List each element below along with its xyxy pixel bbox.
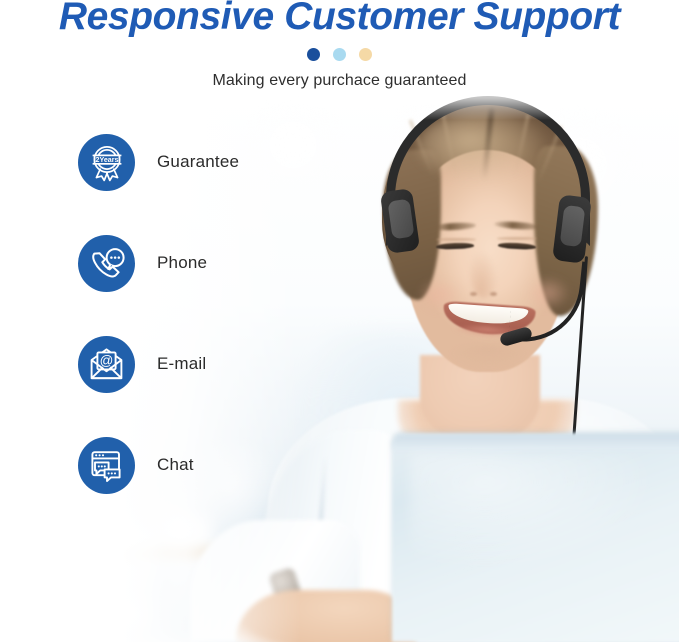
feature-list: 2Years Guarantee (78, 134, 378, 538)
dot-tertiary[interactable] (359, 48, 372, 61)
promo-banner: Responsive Customer Support Making every… (0, 0, 679, 642)
feature-label: Guarantee (157, 152, 239, 172)
svg-text:@: @ (100, 353, 114, 368)
feature-label: Phone (157, 253, 207, 273)
feature-item-guarantee[interactable]: 2Years Guarantee (78, 134, 378, 235)
dot-active[interactable] (307, 48, 320, 61)
feature-item-phone[interactable]: Phone (78, 235, 378, 336)
feature-item-chat[interactable]: Chat (78, 437, 378, 538)
pagination-dots[interactable] (0, 48, 679, 61)
page-title: Responsive Customer Support (0, 0, 679, 39)
banner-content: Responsive Customer Support Making every… (0, 0, 679, 642)
chat-window-icon (78, 437, 135, 494)
guarantee-badge-icon: 2Years (78, 134, 135, 191)
phone-chat-icon (78, 235, 135, 292)
feature-label: E-mail (157, 354, 206, 374)
page-subtitle: Making every purchace guaranteed (0, 72, 679, 90)
dot-secondary[interactable] (333, 48, 346, 61)
svg-text:2Years: 2Years (95, 155, 118, 163)
feature-label: Chat (157, 455, 194, 475)
email-envelope-at-icon: @ (78, 336, 135, 393)
feature-item-email[interactable]: @ E-mail (78, 336, 378, 437)
